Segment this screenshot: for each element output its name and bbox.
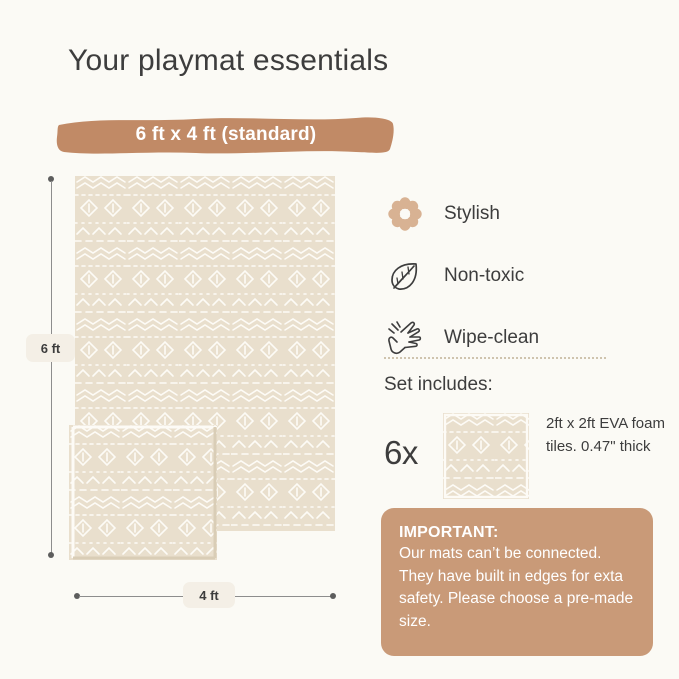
tile-thumbnail-pattern	[443, 413, 529, 499]
height-dimension-rule	[51, 181, 52, 553]
width-dimension-cap-right	[330, 593, 336, 599]
tile-description: 2ft x 2ft EVA foam tiles. 0.47" thick	[546, 412, 666, 458]
small-playmat-pattern	[69, 425, 217, 560]
small-playmat	[69, 425, 217, 560]
height-dimension-line	[50, 176, 52, 558]
leaf-icon	[384, 255, 426, 297]
important-body: Our mats can’t be connected. They have b…	[399, 543, 635, 633]
feature-list: Stylish Non-toxic	[384, 183, 654, 369]
feature-label: Stylish	[444, 203, 500, 225]
infographic-page: Your playmat essentials 6 ft x 4 ft (sta…	[0, 0, 679, 679]
important-notice: IMPORTANT: Our mats can’t be connected. …	[381, 508, 653, 656]
tile-thumbnail	[443, 413, 529, 499]
height-dimension-cap-bottom	[48, 552, 54, 558]
important-title: IMPORTANT:	[399, 524, 635, 542]
feature-label: Wipe-clean	[444, 327, 539, 349]
wiping-hand-icon	[384, 317, 426, 359]
width-label: 4 ft	[183, 582, 235, 608]
feature-label: Non-toxic	[444, 265, 524, 287]
size-banner-label: 6 ft x 4 ft (standard)	[56, 113, 396, 157]
feature-item-stylish: Stylish	[384, 183, 654, 245]
tile-quantity: 6x	[384, 434, 418, 472]
height-label: 6 ft	[26, 334, 75, 362]
set-includes-heading: Set includes:	[384, 374, 493, 396]
section-divider	[384, 357, 606, 361]
flower-icon	[384, 193, 426, 235]
feature-item-non-toxic: Non-toxic	[384, 245, 654, 307]
size-banner: 6 ft x 4 ft (standard)	[56, 113, 396, 157]
page-title: Your playmat essentials	[68, 44, 388, 78]
